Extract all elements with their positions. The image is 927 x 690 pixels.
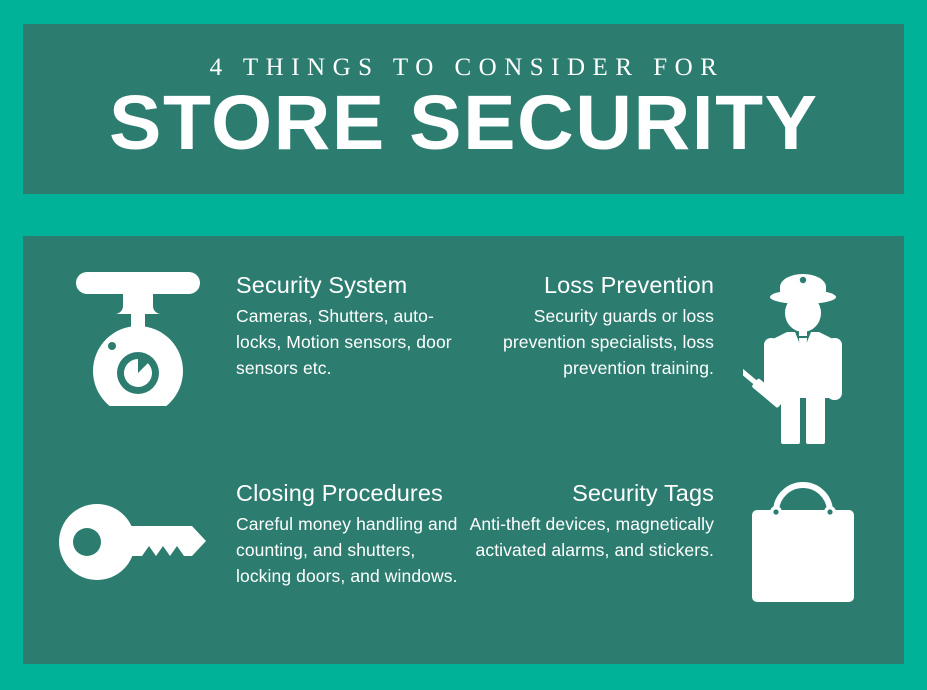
list-item-text: Loss Prevention Security guards or loss … xyxy=(463,266,728,381)
list-item: Closing Procedures Careful money handlin… xyxy=(48,474,458,592)
content-panel: Security System Cameras, Shutters, auto-… xyxy=(23,236,904,664)
list-item-text: Closing Procedures Careful money handlin… xyxy=(236,474,458,589)
list-item-description: Cameras, Shutters, auto-locks, Motion se… xyxy=(236,303,458,382)
key-icon xyxy=(48,474,228,592)
list-item-description: Anti-theft devices, magnetically activat… xyxy=(463,511,714,564)
header-panel: 4 THINGS TO CONSIDER FOR STORE SECURITY xyxy=(23,24,904,194)
list-item-text: Security Tags Anti-theft devices, magnet… xyxy=(463,474,728,563)
dome-security-camera-icon xyxy=(48,266,228,406)
list-item-title: Closing Procedures xyxy=(236,480,458,508)
header-eyebrow: 4 THINGS TO CONSIDER FOR xyxy=(203,55,725,80)
security-guard-icon xyxy=(728,266,878,446)
shopping-bag-icon xyxy=(728,474,878,607)
list-item-description: Security guards or loss prevention speci… xyxy=(463,303,714,382)
infographic-poster: 4 THINGS TO CONSIDER FOR STORE SECURITY … xyxy=(0,0,927,690)
list-item: Security Tags Anti-theft devices, magnet… xyxy=(463,474,878,607)
list-item-title: Security System xyxy=(236,272,458,300)
list-item-title: Security Tags xyxy=(463,480,714,508)
list-item-description: Careful money handling and counting, and… xyxy=(236,511,458,590)
list-item-text: Security System Cameras, Shutters, auto-… xyxy=(236,266,458,381)
list-item: Security System Cameras, Shutters, auto-… xyxy=(48,266,458,406)
list-item: Loss Prevention Security guards or loss … xyxy=(463,266,878,446)
page-title: STORE SECURITY xyxy=(109,84,818,163)
list-item-title: Loss Prevention xyxy=(463,272,714,300)
